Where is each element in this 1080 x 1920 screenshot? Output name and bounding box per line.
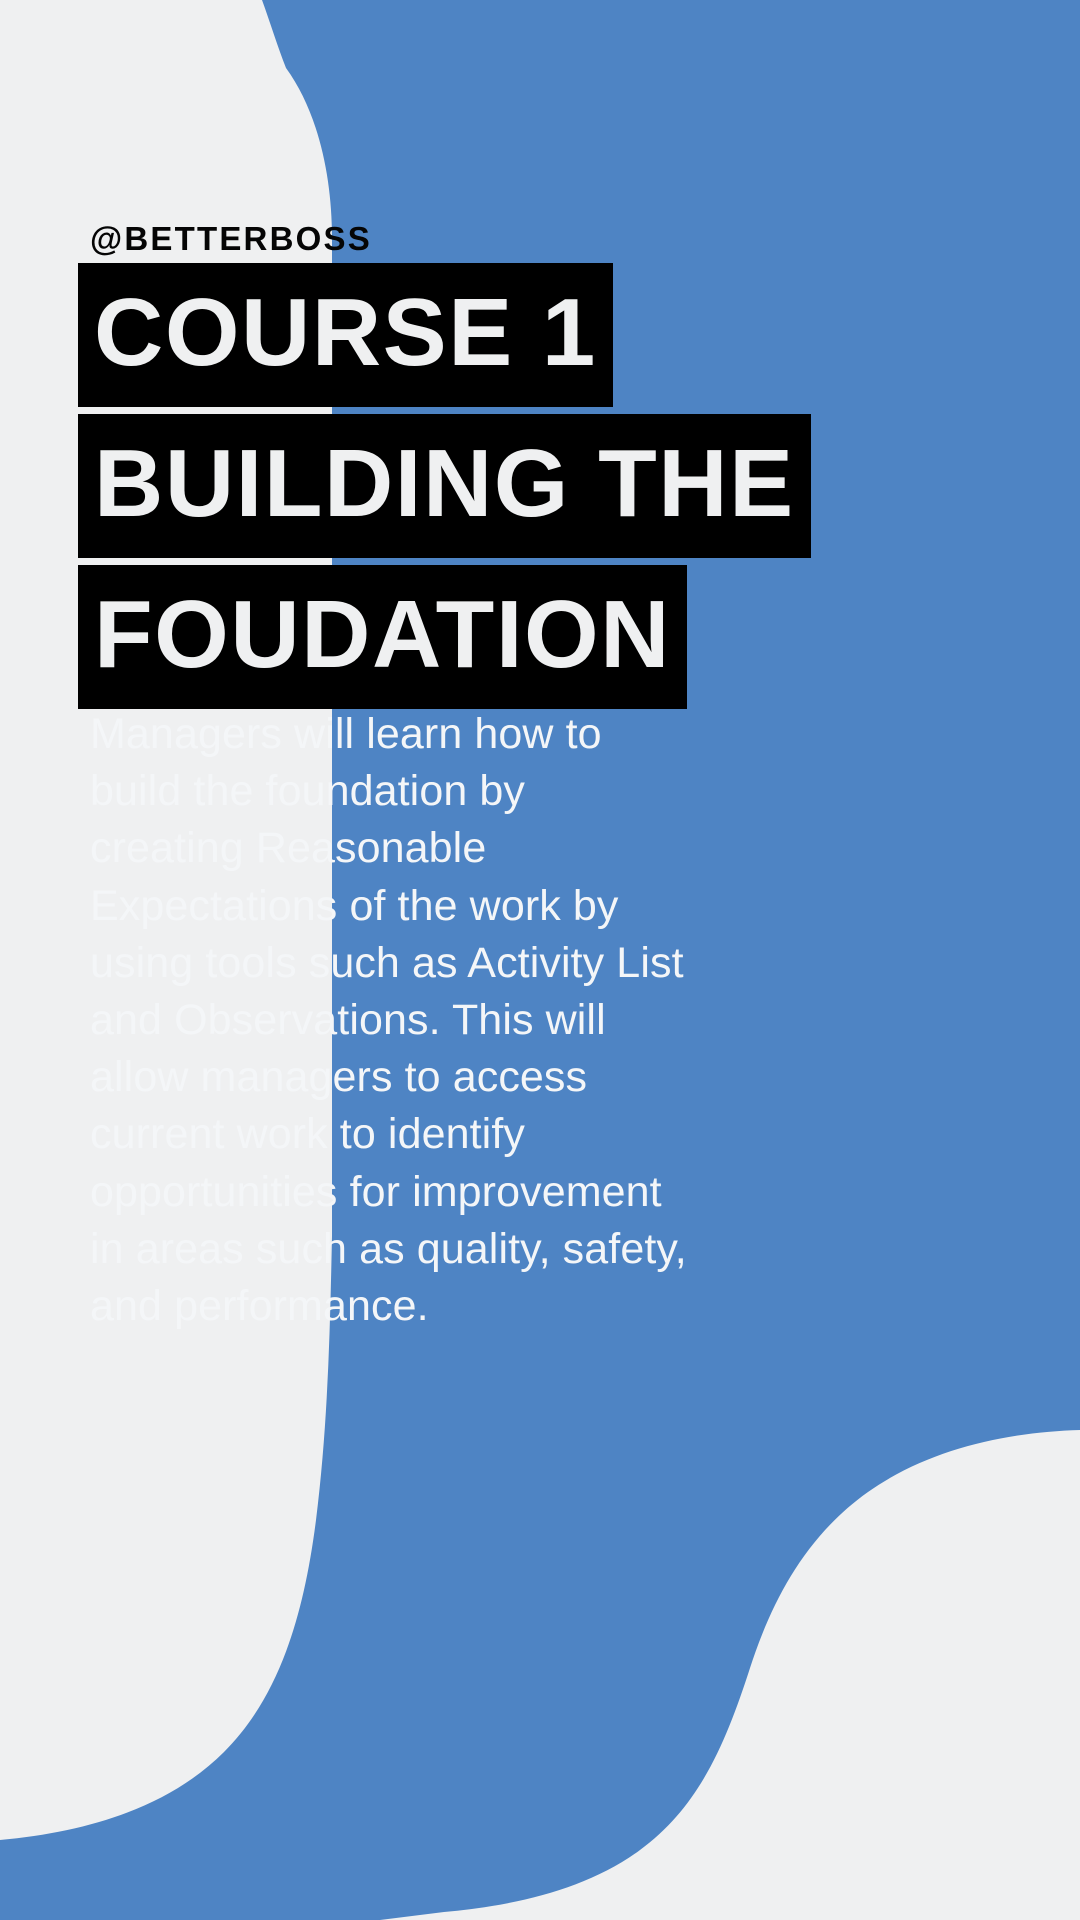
poster-content: @BETTERBOSS COURSE 1 BUILDING THE FOUDAT… bbox=[0, 0, 1080, 1920]
course-description: Managers will learn how to build the fou… bbox=[90, 706, 690, 1335]
headline-line-3: FOUDATION bbox=[78, 565, 687, 709]
headline-line-1: COURSE 1 bbox=[78, 263, 613, 407]
headline-line-2: BUILDING THE bbox=[78, 414, 811, 558]
course-slide-poster: @BETTERBOSS COURSE 1 BUILDING THE FOUDAT… bbox=[0, 0, 1080, 1920]
account-handle: @BETTERBOSS bbox=[90, 222, 372, 255]
headline-group: COURSE 1 BUILDING THE FOUDATION bbox=[78, 263, 811, 709]
course-description-text: Managers will learn how to build the fou… bbox=[90, 706, 690, 1335]
